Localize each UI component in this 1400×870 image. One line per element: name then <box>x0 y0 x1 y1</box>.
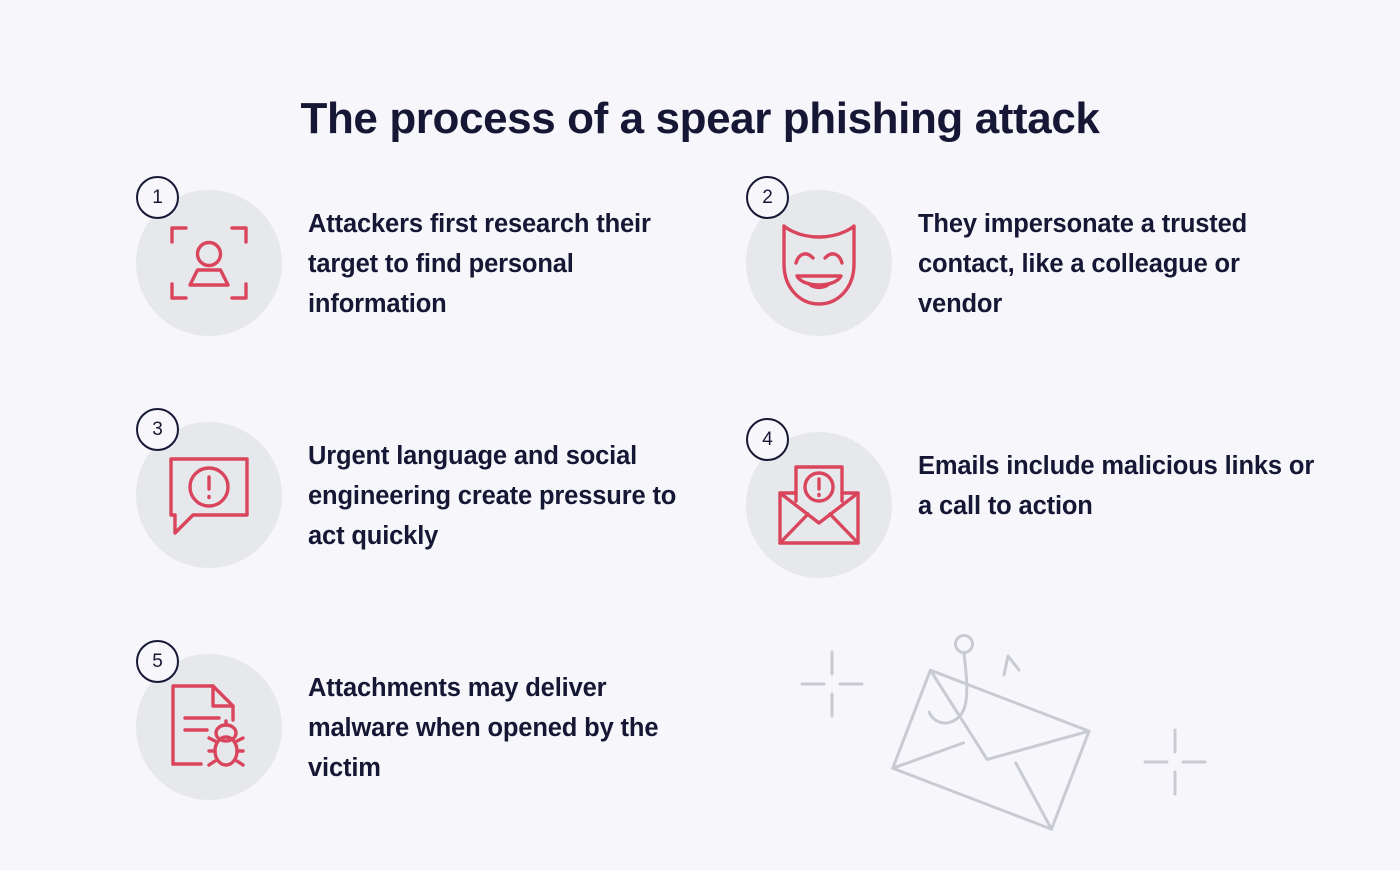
step-2-text: They impersonate a trusted contact, like… <box>918 176 1318 324</box>
step-5-icon-zone: 5 <box>136 640 282 786</box>
tilted-envelope-icon <box>893 670 1089 829</box>
step-5-text: Attachments may deliver malware when ope… <box>308 640 688 788</box>
step-1-icon-zone: 1 <box>136 176 282 322</box>
step-3-number: 3 <box>152 419 163 441</box>
fish-hook-icon <box>929 636 1019 724</box>
step-2-number: 2 <box>762 187 773 209</box>
step-item-1: 1 Attackers first research their target … <box>136 176 688 324</box>
step-4-text: Emails include malicious links or a call… <box>918 418 1318 526</box>
step-5-number-badge: 5 <box>136 640 179 683</box>
sparkle-cross-icon-right <box>1145 730 1205 794</box>
decorative-illustration: phishing hook and envelope illustration <box>790 612 1220 842</box>
step-3-number-badge: 3 <box>136 408 179 451</box>
step-1-number-badge: 1 <box>136 176 179 219</box>
step-item-4: 4 Emails include malicious links or a ca… <box>746 418 1318 564</box>
step-1-number: 1 <box>152 187 163 209</box>
step-3-text: Urgent language and social engineering c… <box>308 408 688 556</box>
infographic-canvas: The process of a spear phishing attack <box>0 0 1400 870</box>
sparkle-cross-icon-left <box>802 652 862 716</box>
page-title: The process of a spear phishing attack <box>0 91 1400 147</box>
step-2-number-badge: 2 <box>746 176 789 219</box>
step-1-text: Attackers first research their target to… <box>308 176 688 324</box>
step-4-number-badge: 4 <box>746 418 789 461</box>
step-item-3: 3 Urgent language and social engineering… <box>136 408 688 556</box>
step-5-number: 5 <box>152 651 163 673</box>
step-4-icon-zone: 4 <box>746 418 892 564</box>
decoration-label: phishing hook and envelope illustration <box>790 612 791 613</box>
step-2-icon-zone: 2 <box>746 176 892 322</box>
step-3-icon-zone: 3 <box>136 408 282 554</box>
step-item-5: 5 Attachments may deliver malware when o… <box>136 640 688 788</box>
step-item-2: 2 They impersonate a trusted contact, li… <box>746 176 1318 324</box>
step-4-number: 4 <box>762 429 773 451</box>
